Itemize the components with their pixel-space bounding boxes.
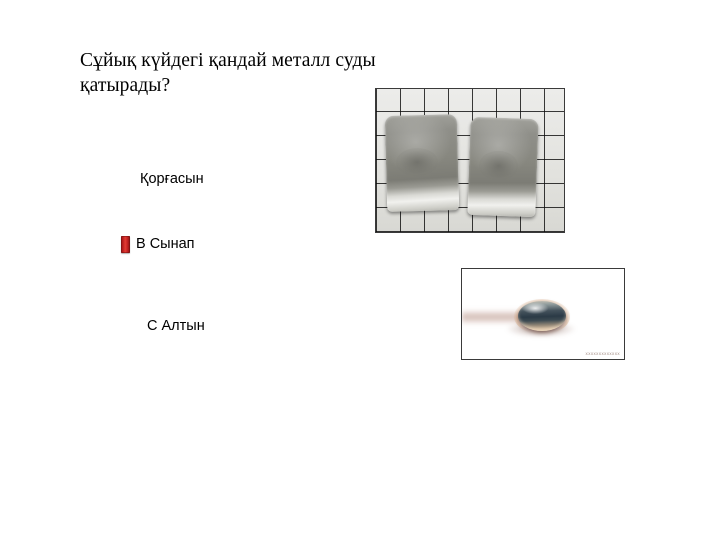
answer-option-c[interactable]: С Алтын [147,317,205,335]
slide-canvas: Сұйық күйдегі қандай металл суды қатырад… [0,0,720,540]
question-title: Сұйық күйдегі қандай металл суды қатырад… [80,48,410,98]
mercury-droplet [518,301,566,331]
answer-option-c-label: С Алтын [147,317,205,335]
answer-option-b-label: В Сынап [136,235,195,253]
lead-ingots-photo [375,88,565,233]
lead-ingot-left [385,114,459,212]
answer-option-a-label: Қорғасын [140,170,204,188]
question-title-line-2: қатырады? [80,73,410,98]
answer-option-a[interactable]: Қорғасын [140,170,204,188]
lead-ingot-right [467,117,538,217]
mercury-droplet-photo: xxxxxxxxxxxxx [461,268,625,360]
question-title-line-1: Сұйық күйдегі қандай металл суды [80,48,410,73]
answer-option-b[interactable]: В Сынап [121,235,195,253]
photo-watermark: xxxxxxxxxxxxx [586,351,620,356]
red-bar-marker-icon [121,236,130,253]
